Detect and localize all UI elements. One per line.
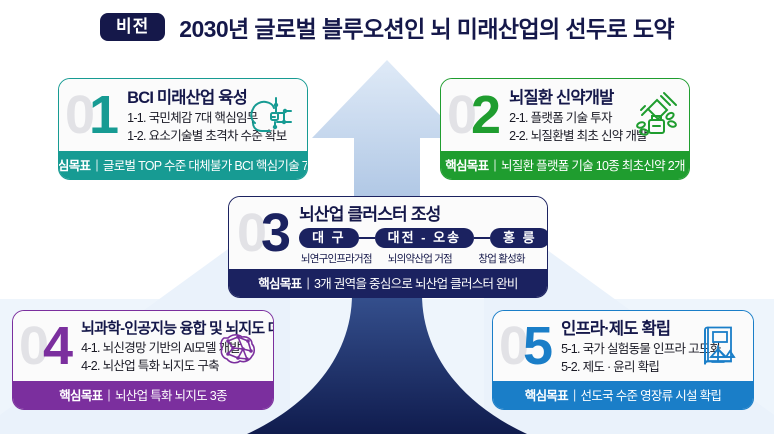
card-line-1: 2-1. 플랫폼 기술 투자: [509, 110, 625, 128]
card-body: 0 2 뇌질환 신약개발 2-1. 플랫폼 기술 투자 2-2. 뇌질환별 최초…: [441, 79, 689, 151]
goal-separator: |: [306, 276, 309, 290]
goal-separator: |: [95, 158, 98, 172]
card-title: 뇌산업 클러스터 조성: [299, 200, 537, 225]
goal-label: 핵심목표: [258, 273, 301, 292]
cluster-connector-2: [474, 237, 490, 239]
strategy-card-2[interactable]: 0 2 뇌질환 신약개발 2-1. 플랫폼 기술 투자 2-2. 뇌질환별 최초…: [440, 78, 690, 180]
goal-label: 핵심목표: [58, 155, 90, 174]
goal-separator: |: [493, 158, 496, 172]
brain-network-icon: [211, 320, 263, 372]
card-body: 0 5 인프라·제도 확립 5-1. 국가 실험동물 인프라 고도화 5-2. …: [493, 311, 753, 381]
strategy-card-3[interactable]: 0 3 뇌산업 클러스터 조성 대 구 대전 - 오송 홍 릉 뇌연구인프라거점…: [228, 196, 548, 298]
card-body: 0 1 BCI 미래산업 육성 1-1. 국민체감 7대 핵심임무 1-2. 요…: [59, 79, 307, 151]
book-scales-icon: [691, 320, 743, 372]
card-number: 2: [471, 88, 501, 142]
goal-label: 핵심목표: [525, 385, 568, 404]
strategy-card-5[interactable]: 0 5 인프라·제도 확립 5-1. 국가 실험동물 인프라 고도화 5-2. …: [492, 310, 754, 410]
card-text: 뇌질환 신약개발 2-1. 플랫폼 기술 투자 2-2. 뇌질환별 최초 신약 …: [509, 84, 625, 146]
card-number: 4: [43, 319, 73, 373]
cluster-pill-row: 대 구 대전 - 오송 홍 릉: [299, 228, 537, 248]
cluster-sub-daegu: 뇌연구인프라거점: [299, 251, 373, 266]
goal-value: 선도국 수준 영장류 시설 확립: [581, 385, 722, 404]
page-title: 2030년 글로벌 블루오션인 뇌 미래산업의 선두로 도약: [179, 10, 674, 44]
card-line-2: 4-2. 뇌산업 특화 뇌지도 구축: [81, 358, 209, 376]
vision-badge: 비전: [100, 13, 165, 41]
cluster-connector-1: [359, 237, 375, 239]
card-line-1: 1-1. 국민체감 7대 핵심임무: [127, 110, 243, 128]
goal-value: 3개 권역을 중심으로 뇌산업 클러스터 완비: [314, 273, 518, 292]
card-title: 인프라·제도 확립: [561, 315, 689, 339]
goal-value: 뇌질환 플랫폼 기술 10종 최초신약 2개: [501, 155, 685, 174]
card-text: 뇌과학-인공지능 융합 및 뇌지도 데이터 4-1. 뇌신경망 기반의 AI모델…: [81, 317, 209, 376]
cluster-sub-daejeon-osong: 뇌의약산업 거점: [374, 251, 467, 266]
goal-value: 글로벌 TOP 수준 대체불가 BCI 핵심기술 7개: [103, 155, 308, 174]
card-line-1: 4-1. 뇌신경망 기반의 AI모델 개발: [81, 340, 209, 358]
cluster-sub-row: 뇌연구인프라거점 뇌의약산업 거점 창업 활성화: [299, 251, 537, 266]
card-number: 1: [89, 88, 119, 142]
goal-value: 뇌산업 특화 뇌지도 3종: [115, 385, 227, 404]
strategy-card-4[interactable]: 0 4 뇌과학-인공지능 융합 및 뇌지도 데이터 4-1. 뇌신경망 기반의 …: [12, 310, 274, 410]
card-body: 0 4 뇌과학-인공지능 융합 및 뇌지도 데이터 4-1. 뇌신경망 기반의 …: [13, 311, 273, 381]
strategy-card-1[interactable]: 0 1 BCI 미래산업 육성 1-1. 국민체감 7대 핵심임무 1-2. 요…: [58, 78, 308, 180]
cluster-pill-hongneung[interactable]: 홍 릉: [490, 228, 548, 248]
card-goal-bar: 핵심목표 | 선도국 수준 영장류 시설 확립: [493, 381, 753, 409]
card-goal-bar: 핵심목표 | 뇌산업 특화 뇌지도 3종: [13, 381, 273, 409]
goal-separator: |: [573, 388, 576, 402]
brain-circuit-icon: [245, 89, 297, 141]
card-line-2: 2-2. 뇌질환별 최초 신약 개발: [509, 128, 625, 146]
card-number: 3: [261, 206, 291, 260]
goal-separator: |: [107, 388, 110, 402]
card-title: 뇌과학-인공지능 융합 및 뇌지도 데이터: [81, 317, 209, 338]
cluster-pill-daegu[interactable]: 대 구: [299, 228, 359, 248]
card-body: 0 3 뇌산업 클러스터 조성 대 구 대전 - 오송 홍 릉 뇌연구인프라거점…: [229, 197, 547, 269]
goal-label: 핵심목표: [445, 155, 488, 174]
goal-label: 핵심목표: [59, 385, 102, 404]
card-goal-bar: 핵심목표 | 뇌질환 플랫폼 기술 10종 최초신약 2개: [441, 151, 689, 179]
infographic-canvas: 비전 2030년 글로벌 블루오션인 뇌 미래산업의 선두로 도약 0 1 BC…: [0, 0, 774, 434]
card-goal-bar: 핵심목표 | 3개 권역을 중심으로 뇌산업 클러스터 완비: [229, 269, 547, 297]
card-text: 뇌산업 클러스터 조성 대 구 대전 - 오송 홍 릉 뇌연구인프라거점 뇌의약…: [299, 200, 537, 266]
card-line-2: 1-2. 요소기술별 초격차 수준 확보: [127, 128, 243, 146]
syringe-pills-icon: [627, 89, 679, 141]
card-text: 인프라·제도 확립 5-1. 국가 실험동물 인프라 고도화 5-2. 제도 ·…: [561, 315, 689, 377]
card-goal-bar: 핵심목표 | 글로벌 TOP 수준 대체불가 BCI 핵심기술 7개: [59, 151, 307, 179]
funnel-shape-icon: [247, 294, 527, 434]
card-line-1: 5-1. 국가 실험동물 인프라 고도화: [561, 341, 689, 359]
vision-header: 비전 2030년 글로벌 블루오션인 뇌 미래산업의 선두로 도약: [0, 6, 774, 48]
card-number: 5: [523, 319, 553, 373]
cluster-sub-hongneung: 창업 활성화: [466, 251, 537, 266]
card-title: BCI 미래산업 육성: [127, 84, 243, 108]
cluster-pill-daejeon-osong[interactable]: 대전 - 오송: [375, 228, 474, 248]
card-line-2: 5-2. 제도 · 윤리 확립: [561, 359, 689, 377]
card-text: BCI 미래산업 육성 1-1. 국민체감 7대 핵심임무 1-2. 요소기술별…: [127, 84, 243, 146]
card-title: 뇌질환 신약개발: [509, 84, 625, 108]
